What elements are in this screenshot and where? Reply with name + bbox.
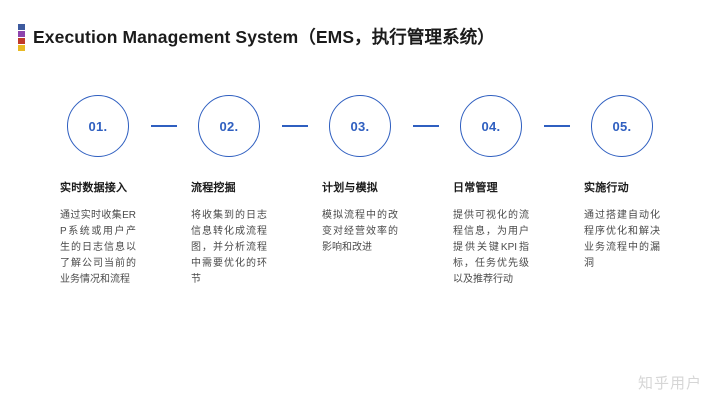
process-step-3[interactable]: 03. 计划与模拟 模拟流程中的改变对经营效率的影响和改进 bbox=[308, 95, 412, 256]
step-heading-5: 实施行动 bbox=[584, 179, 629, 195]
step-heading-1: 实时数据接入 bbox=[60, 179, 127, 195]
marker-square-1 bbox=[18, 24, 25, 30]
step-body-1: 通过实时收集ERP系统或用户产生的日志信息以了解公司当前的业务情况和流程 bbox=[60, 208, 136, 288]
process-steps: 01. 实时数据接入 通过实时收集ERP系统或用户产生的日志信息以了解公司当前的… bbox=[46, 95, 674, 288]
step-number-1: 01. bbox=[89, 119, 108, 134]
step-connector-3-4 bbox=[412, 95, 439, 157]
page-header: Execution Management System（EMS，执行管理系统） bbox=[0, 22, 720, 54]
title-marker-icon bbox=[18, 23, 25, 53]
step-body-5: 通过搭建自动化程序优化和解决业务流程中的漏洞 bbox=[584, 208, 660, 272]
step-number-2: 02. bbox=[220, 119, 239, 134]
step-circle-4: 04. bbox=[460, 95, 522, 157]
watermark: 知乎用户 bbox=[638, 372, 702, 393]
step-circle-wrap-5: 05. bbox=[570, 95, 674, 157]
step-connector-1-2 bbox=[150, 95, 177, 157]
step-circle-wrap-3: 03. bbox=[308, 95, 412, 157]
marker-square-4 bbox=[18, 45, 25, 51]
step-body-3: 模拟流程中的改变对经营效率的影响和改进 bbox=[322, 208, 398, 256]
marker-square-2 bbox=[18, 31, 25, 37]
step-circle-wrap-2: 02. bbox=[177, 95, 281, 157]
step-connector-2-3 bbox=[281, 95, 308, 157]
marker-square-3 bbox=[18, 38, 25, 44]
step-connector-4-5 bbox=[543, 95, 570, 157]
process-step-2[interactable]: 02. 流程挖掘 将收集到的日志信息转化成流程图，并分析流程中需要优化的环节 bbox=[177, 95, 281, 288]
process-step-5[interactable]: 05. 实施行动 通过搭建自动化程序优化和解决业务流程中的漏洞 bbox=[570, 95, 674, 272]
process-step-1[interactable]: 01. 实时数据接入 通过实时收集ERP系统或用户产生的日志信息以了解公司当前的… bbox=[46, 95, 150, 288]
step-body-4: 提供可视化的流程信息，为用户提供关键KPI指标，任务优先级以及推荐行动 bbox=[453, 208, 529, 288]
step-number-3: 03. bbox=[351, 119, 370, 134]
step-number-5: 05. bbox=[613, 119, 632, 134]
step-circle-3: 03. bbox=[329, 95, 391, 157]
process-step-4[interactable]: 04. 日常管理 提供可视化的流程信息，为用户提供关键KPI指标，任务优先级以及… bbox=[439, 95, 543, 288]
step-circle-2: 02. bbox=[198, 95, 260, 157]
step-circle-wrap-1: 01. bbox=[46, 95, 150, 157]
page-title: Execution Management System（EMS，执行管理系统） bbox=[33, 29, 495, 47]
step-body-2: 将收集到的日志信息转化成流程图，并分析流程中需要优化的环节 bbox=[191, 208, 267, 288]
step-heading-4: 日常管理 bbox=[453, 179, 498, 195]
step-heading-3: 计划与模拟 bbox=[322, 179, 378, 195]
step-circle-1: 01. bbox=[67, 95, 129, 157]
step-circle-wrap-4: 04. bbox=[439, 95, 543, 157]
step-number-4: 04. bbox=[482, 119, 501, 134]
step-circle-5: 05. bbox=[591, 95, 653, 157]
step-heading-2: 流程挖掘 bbox=[191, 179, 236, 195]
